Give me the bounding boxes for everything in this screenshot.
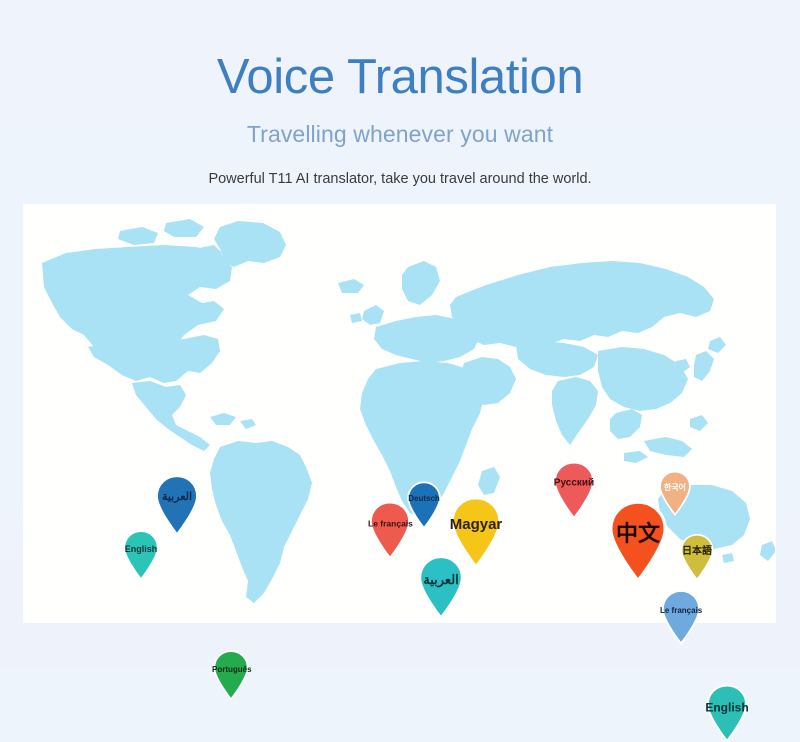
- map-pin-icon: [552, 462, 596, 519]
- page-root: Voice Translation Travelling whenever yo…: [0, 0, 800, 667]
- page-header: Voice Translation Travelling whenever yo…: [0, 0, 800, 189]
- pin-english-oceania[interactable]: English: [705, 685, 749, 742]
- pin-english-north-america[interactable]: English: [122, 530, 160, 580]
- map-pin-icon: [212, 650, 250, 700]
- pin-arabic-north-america[interactable]: العربية: [154, 475, 200, 535]
- map-pin-icon: [660, 590, 702, 644]
- page-tagline: Powerful T11 AI translator, take you tra…: [0, 148, 800, 189]
- map-pin-icon: [705, 685, 749, 742]
- map-pin-icon: [406, 481, 442, 529]
- map-pin-icon: [607, 501, 669, 581]
- pin-deutsch-europe[interactable]: Deutsch: [406, 481, 442, 529]
- map-pin-icon: [679, 534, 715, 580]
- pin-chinese-asia[interactable]: 中文: [607, 501, 669, 581]
- map-pin-icon: [122, 530, 160, 580]
- pin-japanese-asia[interactable]: 日本語: [679, 534, 715, 580]
- map-card: العربيةEnglishPortuguêsLe françaisDeutsc…: [24, 205, 775, 622]
- pin-portugues-south-america[interactable]: Português: [212, 650, 250, 700]
- pin-le-francais-asia[interactable]: Le français: [660, 590, 702, 644]
- map-pin-icon: [417, 556, 465, 618]
- page-title: Voice Translation: [0, 0, 800, 106]
- pin-russian-asia[interactable]: Русский: [552, 462, 596, 519]
- map-pin-icon: [154, 475, 200, 535]
- page-subtitle: Travelling whenever you want: [0, 106, 800, 148]
- pin-arabic-africa[interactable]: العربية: [417, 556, 465, 618]
